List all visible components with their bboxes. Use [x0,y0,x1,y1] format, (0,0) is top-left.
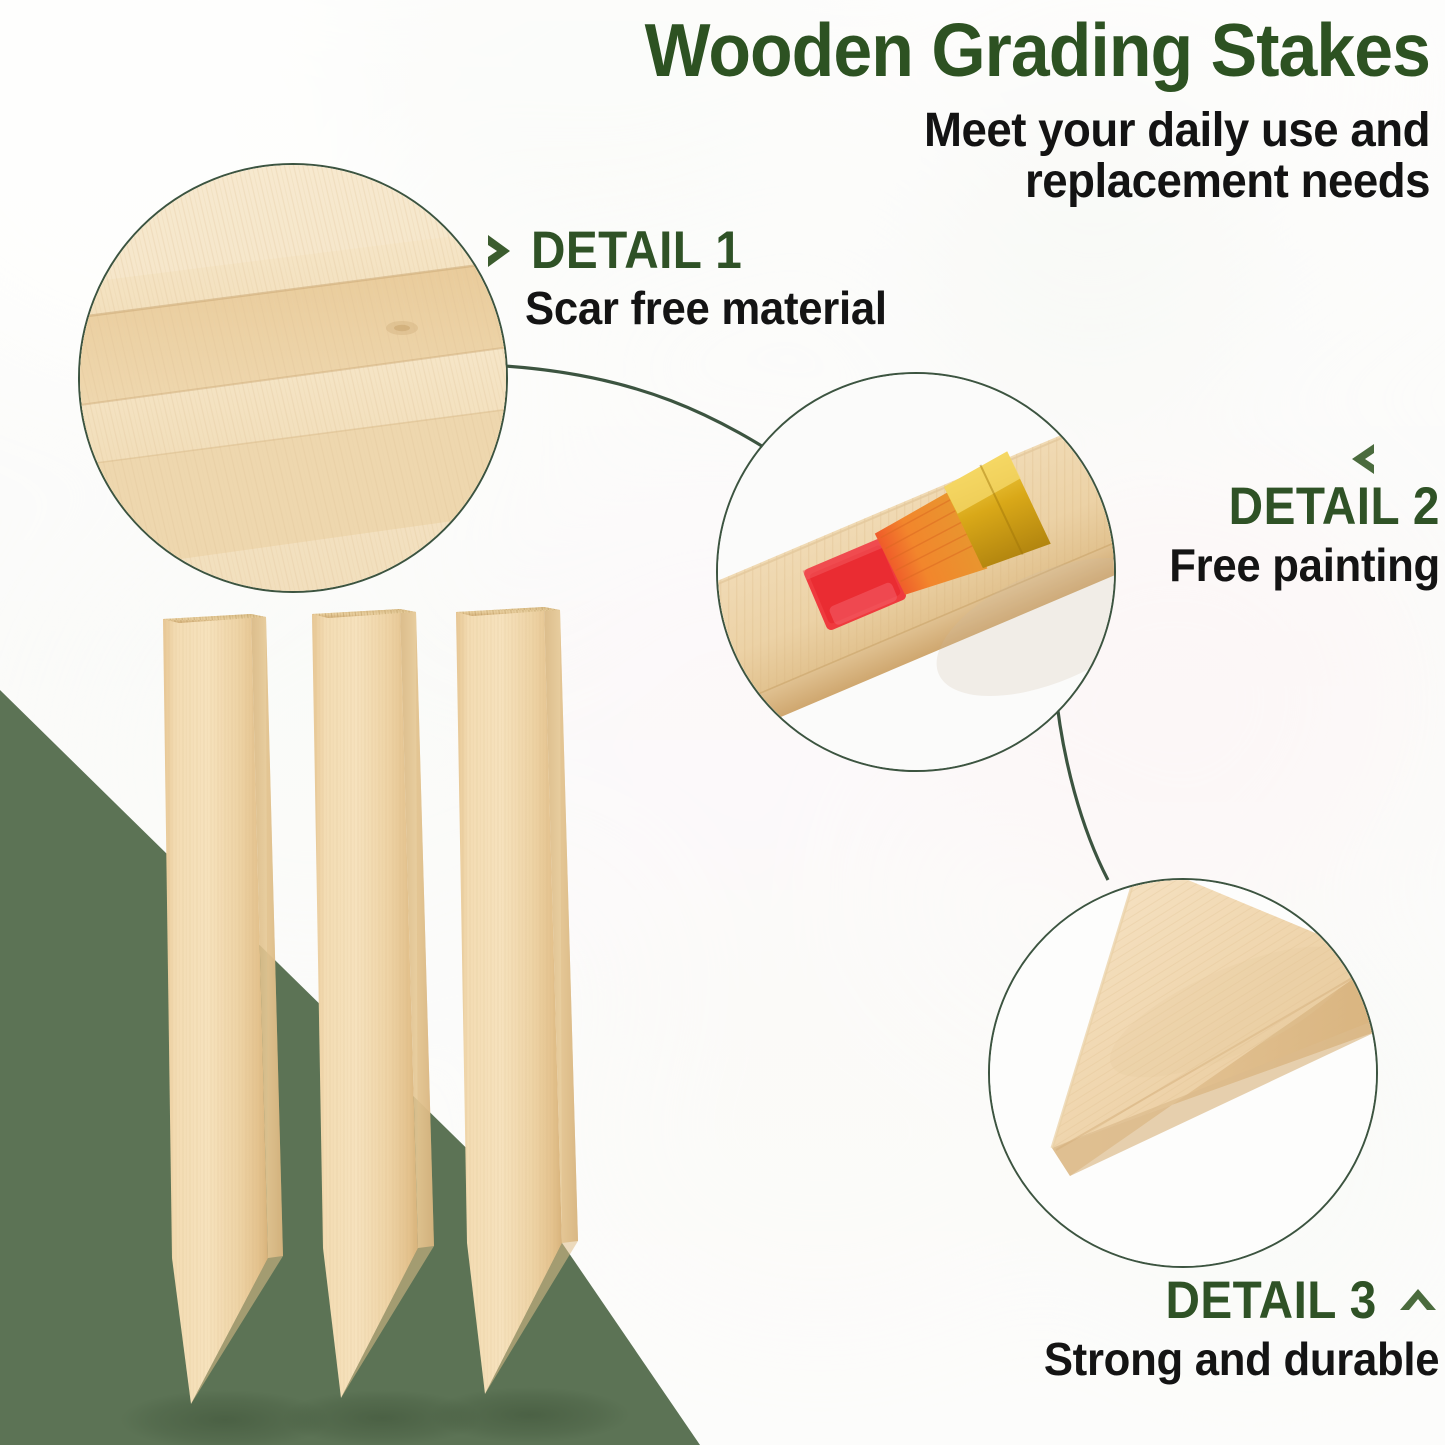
stake-1 [163,614,283,1404]
stake-2 [312,609,434,1398]
detail-3-label-group: DETAIL 3 Strong and durable [1023,1274,1439,1383]
detail-1-circle-image [78,163,508,593]
detail-1-caption: Scar free material [525,284,887,332]
stake-tip-photo [990,880,1378,1268]
chevron-up-icon [1397,1286,1439,1316]
stake-shadow [430,1387,630,1443]
detail-2-caption: Free painting [1169,541,1440,589]
wood-planks-photo [80,165,508,593]
detail-1-heading: DETAIL 1 [531,224,742,277]
detail-2-circle-image [716,372,1116,772]
detail-3-heading: DETAIL 3 [1166,1274,1377,1327]
detail-3-caption: Strong and durable [1044,1335,1439,1383]
detail-3-circle-image [988,878,1378,1268]
paintbrush-on-stake-photo [718,374,1116,772]
chevron-right-icon [484,231,514,271]
detail-2-label-group: DETAIL 2 Free painting [1155,440,1440,589]
stake-3 [456,607,578,1394]
detail-1-label-group: DETAIL 1 Scar free material [484,224,906,332]
chevron-left-icon [1155,440,1378,478]
detail-2-heading: DETAIL 2 [1184,480,1440,533]
infographic-canvas: Wooden Grading Stakes Meet your daily us… [0,0,1445,1445]
subtitle-line-1: Meet your daily use and [547,106,1431,157]
page-title: Wooden Grading Stakes [379,14,1430,88]
subtitle-line-2: replacement needs [547,157,1431,208]
page-subtitle: Meet your daily use and replacement need… [547,106,1431,208]
